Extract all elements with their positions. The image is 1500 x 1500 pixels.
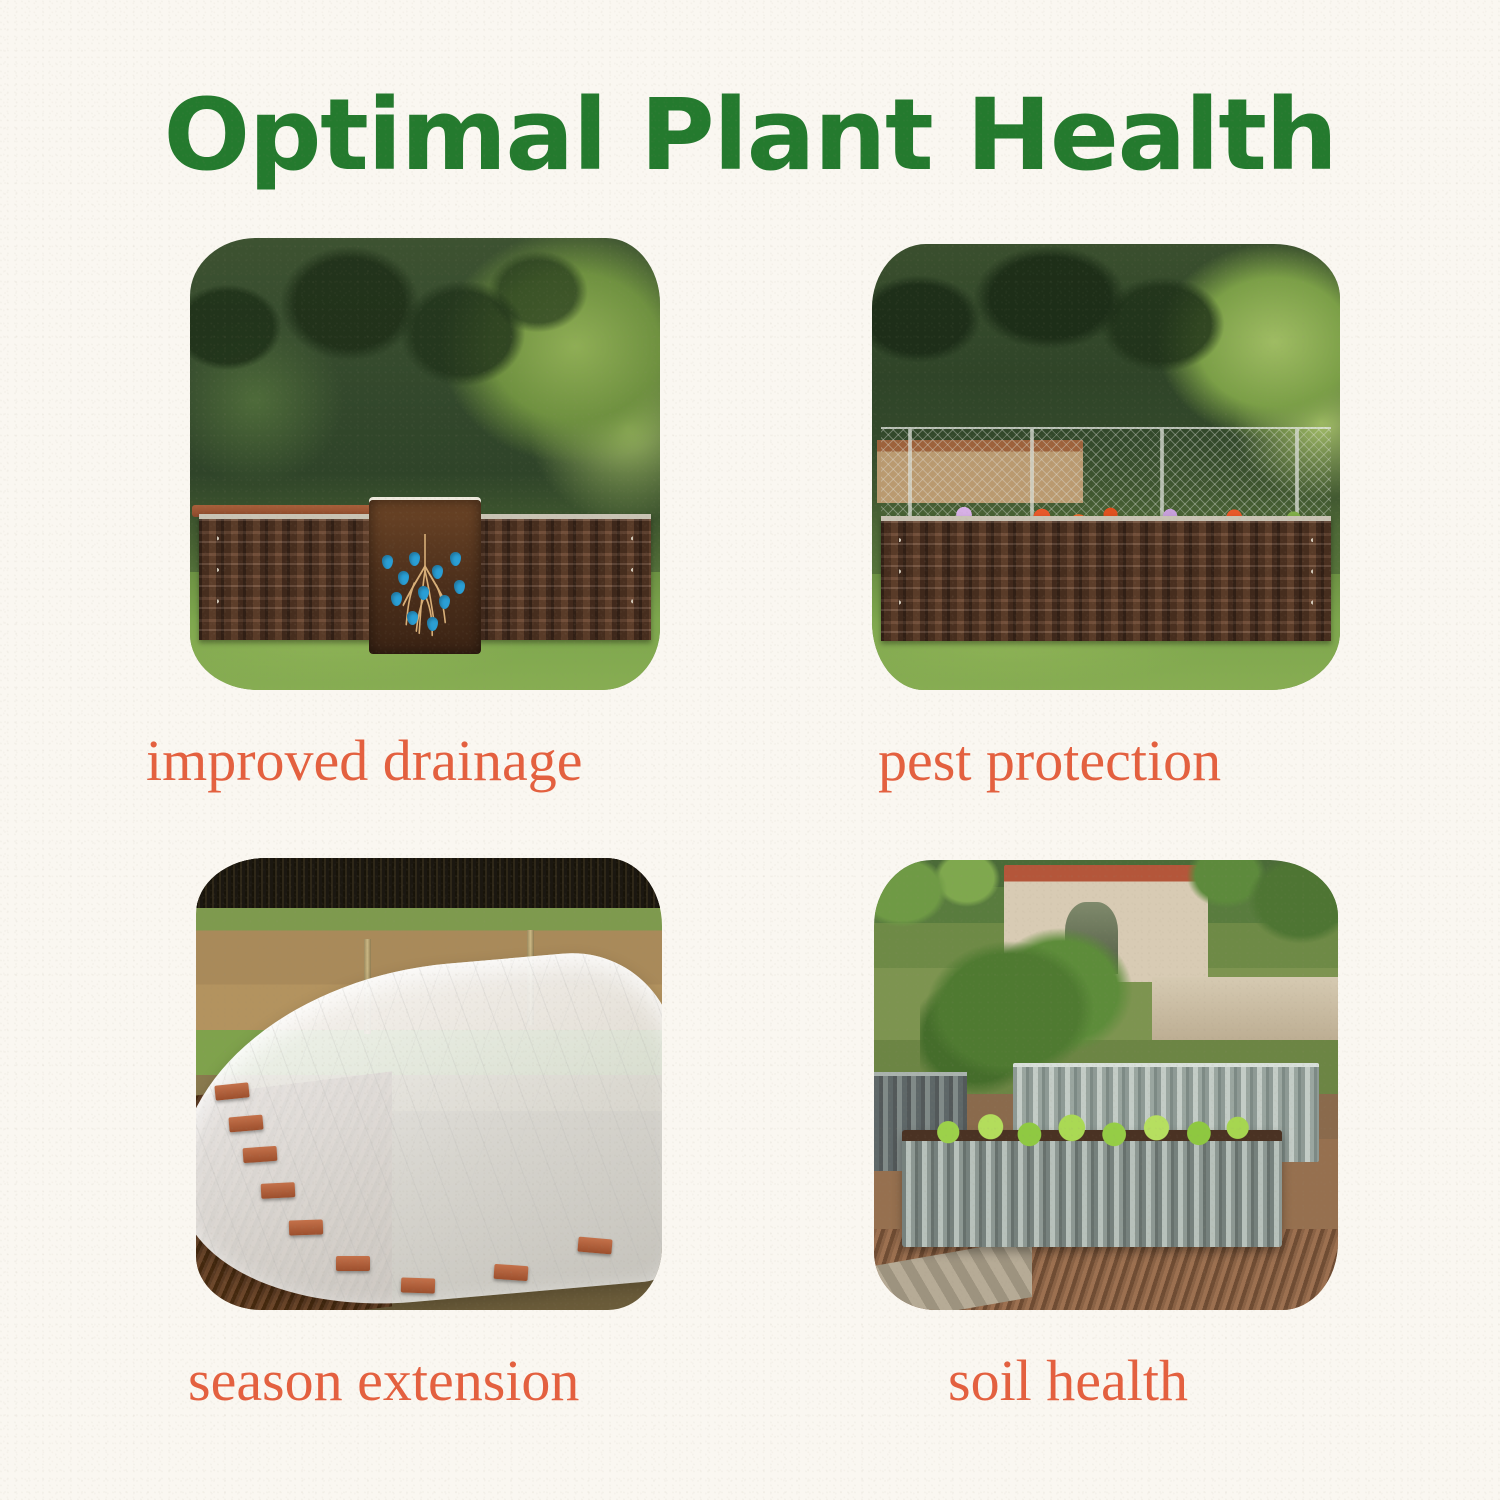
photo-soil-health <box>874 860 1338 1310</box>
photo-improved-drainage <box>190 238 660 690</box>
brick-weight <box>336 1256 370 1271</box>
benefits-grid: improved drainage pest protection <box>0 0 1500 1500</box>
brick-weight <box>289 1219 324 1235</box>
brick-weight <box>578 1236 613 1254</box>
soil-cutaway <box>369 500 482 654</box>
water-drop-icon <box>454 580 465 594</box>
caption-improved-drainage: improved drainage <box>146 732 582 790</box>
benefit-card-pest-protection[interactable] <box>872 244 1340 690</box>
benefit-card-soil-health[interactable] <box>874 860 1338 1310</box>
brown-raised-bed <box>881 516 1330 641</box>
caption-season-extension: season extension <box>188 1352 579 1410</box>
water-drop-icon <box>432 565 443 579</box>
brick-weight <box>228 1114 263 1132</box>
plant-health-infographic: Optimal Plant Health <box>0 0 1500 1500</box>
brick-weight <box>261 1183 296 1200</box>
dark-tree-canopy <box>190 238 660 536</box>
photo-pest-protection <box>872 244 1340 690</box>
caption-pest-protection: pest protection <box>878 732 1221 790</box>
brick-weight <box>242 1146 277 1163</box>
stucco-wall <box>1152 977 1338 1040</box>
lettuce-row <box>920 1103 1273 1157</box>
brick-weight <box>401 1278 436 1294</box>
bare-tree-line <box>196 858 662 908</box>
photo-season-extension <box>196 858 662 1310</box>
benefit-card-improved-drainage[interactable] <box>190 238 660 690</box>
caption-soil-health: soil health <box>948 1352 1188 1410</box>
benefit-card-season-extension[interactable] <box>196 858 662 1310</box>
brick-weight <box>494 1264 529 1281</box>
